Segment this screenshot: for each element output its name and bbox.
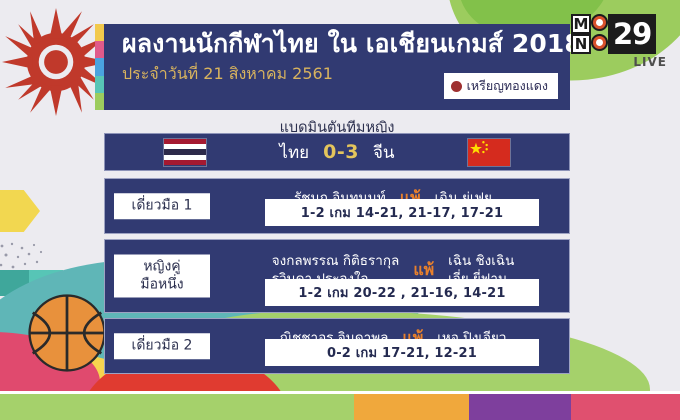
status-badge: เหรียญทองแดง bbox=[444, 73, 558, 99]
sunburst-icon bbox=[2, 8, 110, 116]
stripe-seg-5 bbox=[95, 93, 104, 110]
scoreline: 0-2 เกม 17-21, 12-21 bbox=[265, 339, 539, 366]
mono-row-bottom: N bbox=[571, 34, 608, 54]
match-category: เดี่ยวมือ 2 bbox=[114, 333, 210, 359]
logo-letter-n: N bbox=[571, 34, 591, 54]
china-flag-icon bbox=[467, 138, 511, 167]
yellow-chevron-shape bbox=[0, 190, 40, 232]
table-row: เดี่ยวมือ 2 ณิชชาอร จินดาพล แพ้ เหอ ปิงเ… bbox=[104, 318, 570, 374]
medal-badge-label: เหรียญทองแดง bbox=[467, 76, 548, 96]
band-segment-orange bbox=[354, 394, 470, 420]
band-segment-pink bbox=[571, 394, 680, 420]
logo-letter-o-bottom bbox=[591, 34, 608, 51]
band-segment-green bbox=[0, 394, 354, 420]
mono-letter-grid: M N bbox=[571, 14, 608, 54]
logo-letter-o-top bbox=[591, 14, 608, 31]
header-panel: ผลงานนักกีฬาไทย ใน เอเชียนเกมส์ 2018 ประ… bbox=[104, 24, 570, 110]
away-team-name: จีน bbox=[373, 139, 395, 166]
stripe-seg-2 bbox=[95, 41, 104, 58]
page-title: ผลงานนักกีฬาไทย ใน เอเชียนเกมส์ 2018 bbox=[104, 24, 570, 59]
home-team-name: ไทย bbox=[279, 139, 309, 166]
logo-box: M N 29 bbox=[571, 14, 667, 54]
logo-number-29: 29 bbox=[608, 14, 656, 54]
bottom-color-band bbox=[0, 394, 680, 420]
basketball-icon bbox=[28, 294, 106, 372]
logo-letter-m: M bbox=[571, 14, 591, 34]
stripe-seg-1 bbox=[95, 24, 104, 41]
mono29-logo: M N 29 LIVE bbox=[571, 14, 667, 69]
match-category: เดี่ยวมือ 1 bbox=[114, 193, 210, 219]
match-category: หญิงคู่ มือหนึ่ง bbox=[114, 255, 210, 298]
header-color-stripe bbox=[95, 24, 104, 110]
table-row: หญิงคู่ มือหนึ่ง จงกลพรรณ กิติธรากุล รวิ… bbox=[104, 239, 570, 313]
scoreboard: ไทย 0-3 จีน bbox=[104, 133, 570, 171]
mono-row-top: M bbox=[571, 14, 608, 34]
stripe-seg-4 bbox=[95, 76, 104, 93]
stripe-seg-3 bbox=[95, 58, 104, 75]
band-segment-purple bbox=[469, 394, 571, 420]
bronze-medal-icon bbox=[451, 81, 462, 92]
live-label: LIVE bbox=[571, 55, 667, 69]
match-score: 0-3 bbox=[323, 141, 359, 163]
scoreline: 1-2 เกม 14-21, 21-17, 17-21 bbox=[265, 199, 539, 226]
table-row: เดี่ยวมือ 1 รัชนก อินทนนท์ แพ้ เฉิน ยู่เ… bbox=[104, 178, 570, 234]
scoreline: 1-2 เกม 20-22 , 21-16, 14-21 bbox=[265, 279, 539, 306]
thailand-flag-icon bbox=[163, 138, 207, 167]
